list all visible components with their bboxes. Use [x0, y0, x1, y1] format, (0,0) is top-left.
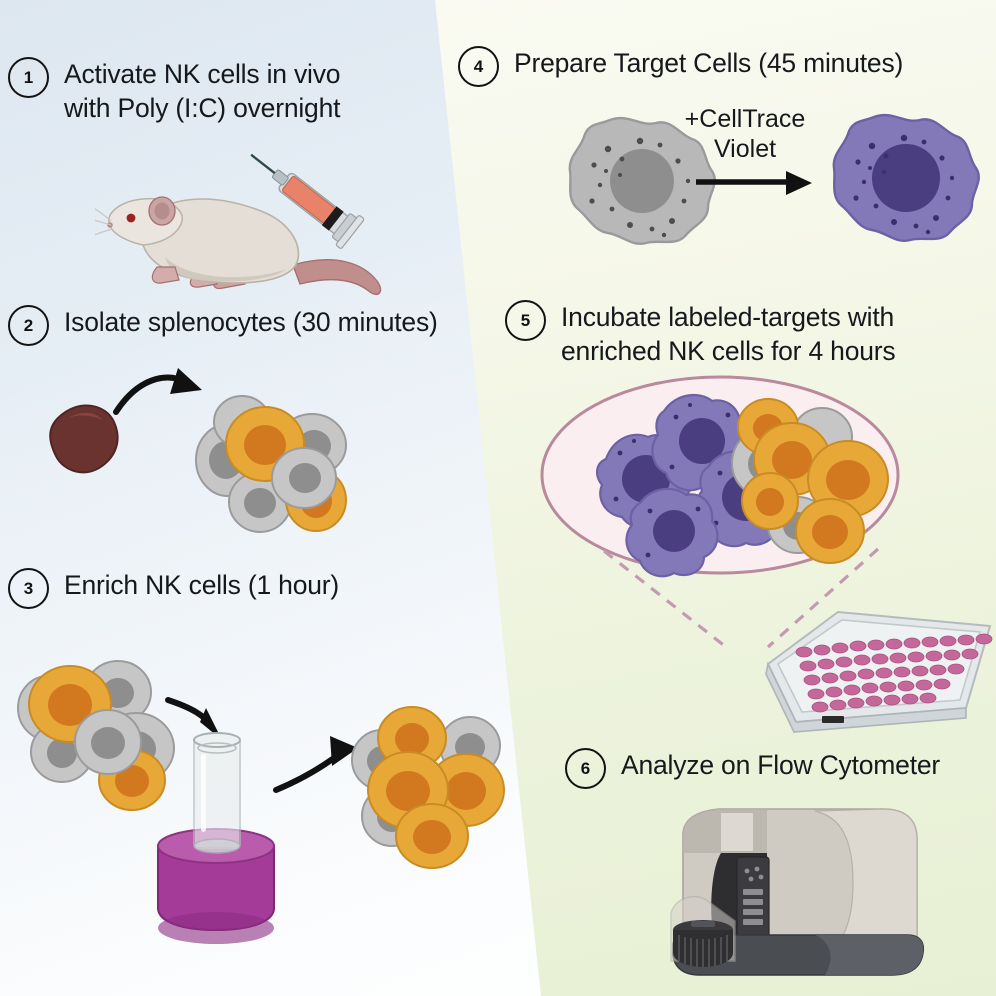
spleen-to-splenocytes-illustration — [20, 360, 380, 545]
step-6-header: 6 Analyze on Flow Cytometer — [565, 748, 985, 789]
unlabeled-target-cell — [570, 118, 715, 244]
step-4-label: Prepare Target Cells (45 minutes) — [514, 46, 903, 81]
step-2-label: Isolate splenocytes (30 minutes) — [64, 305, 438, 340]
step-4-header: 4 Prepare Target Cells (45 minutes) — [458, 46, 978, 87]
step-2-badge: 2 — [8, 305, 49, 346]
mouse-with-syringe-illustration — [95, 145, 415, 305]
nk-enrichment-illustration — [0, 630, 540, 975]
arrow-spleen-to-cells — [116, 368, 202, 412]
coculture-illustration — [530, 375, 996, 735]
flow-cytometer-illustration — [625, 795, 955, 995]
step-2-header: 2 Isolate splenocytes (30 minutes) — [8, 305, 478, 346]
syringe-needle — [251, 155, 275, 173]
step-6-label: Analyze on Flow Cytometer — [621, 748, 940, 783]
carousel-handle — [691, 921, 715, 927]
magnetic-separator — [158, 733, 274, 944]
target-cell-labeling-illustration — [500, 105, 996, 280]
enriched-nk-cluster — [352, 707, 504, 868]
step-3-label: Enrich NK cells (1 hour) — [64, 568, 339, 603]
step-3-header: 3 Enrich NK cells (1 hour) — [8, 568, 428, 609]
collection-tube — [194, 738, 240, 848]
mouse-eye — [127, 214, 136, 223]
step-5-label: Incubate labeled-targets with enriched N… — [561, 300, 895, 368]
arrow-to-enriched — [276, 736, 358, 790]
step-1-header: 1 Activate NK cells in vivo with Poly (I… — [8, 57, 428, 125]
step-5-badge: 5 — [505, 300, 546, 341]
mouse-tail — [293, 260, 381, 295]
step-3-badge: 3 — [8, 568, 49, 609]
step-1-label: Activate NK cells in vivo with Poly (I:C… — [64, 57, 340, 125]
step-5-header: 5 Incubate labeled-targets with enriched… — [505, 300, 965, 368]
step-4-badge: 4 — [458, 46, 499, 87]
plate-barcode — [822, 716, 844, 723]
96-well-plate — [766, 612, 992, 732]
celltrace-labeled-target-cell — [834, 115, 979, 241]
splenocyte-cluster — [196, 396, 346, 532]
step-6-badge: 6 — [565, 748, 606, 789]
mixed-cell-cluster — [18, 661, 174, 810]
workflow-figure: 1 Activate NK cells in vivo with Poly (I… — [0, 0, 996, 996]
step-1-badge: 1 — [8, 57, 49, 98]
